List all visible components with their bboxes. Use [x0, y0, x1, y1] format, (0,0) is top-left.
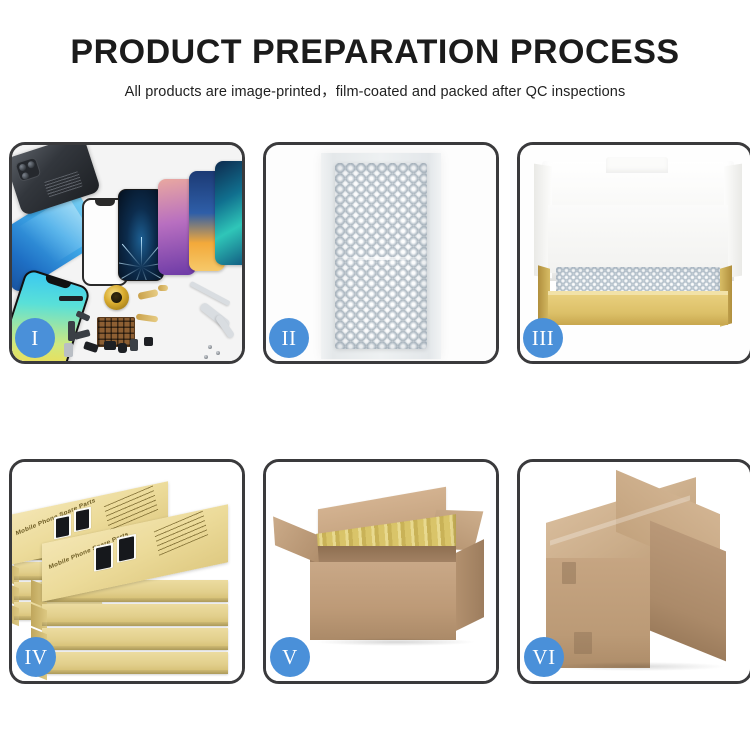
step-badge-6: VI [524, 637, 564, 677]
step-badge-4: IV [16, 637, 56, 677]
speaker-coil-icon [104, 285, 129, 310]
sealed-carton-tape-upper [562, 562, 576, 584]
process-step-panel-2[interactable]: II [263, 142, 499, 364]
carton-shadow [316, 638, 476, 646]
mailer-interior [548, 205, 728, 273]
mailer-front-wall [548, 295, 728, 325]
header: PRODUCT PREPARATION PROCESS All products… [0, 0, 750, 101]
page-subtitle: All products are image-printed，film-coat… [0, 80, 750, 101]
step-badge-5: V [270, 637, 310, 677]
part-antenna [59, 296, 83, 301]
part-tray [64, 343, 73, 357]
process-step-panel-6[interactable]: VI [517, 459, 750, 684]
page-title: PRODUCT PREPARATION PROCESS [0, 34, 750, 71]
part-module-1 [104, 341, 116, 350]
mailer-top-flap [606, 157, 668, 173]
product-preparation-infographic: PRODUCT PREPARATION PROCESS All products… [0, 0, 750, 750]
process-step-panel-1[interactable]: I [9, 142, 245, 364]
sealed-carton-shadow [554, 662, 724, 671]
part-module-5 [144, 337, 153, 346]
part-module-3 [130, 339, 138, 351]
process-step-grid: I II III [9, 142, 741, 684]
process-step-panel-4[interactable]: Mobile Phone Spare Parts Mobile Phone Sp… [9, 459, 245, 684]
step-badge-2: II [269, 318, 309, 358]
part-module-2 [118, 343, 127, 353]
carton-front-face [310, 562, 456, 640]
process-step-panel-3[interactable]: III [517, 142, 750, 364]
step-badge-3: III [523, 318, 563, 358]
step-badge-1: I [15, 318, 55, 358]
bubble-wrap-seam [336, 257, 426, 260]
process-step-panel-5[interactable]: V [263, 459, 499, 684]
sealed-carton-tape-lower [574, 632, 592, 654]
teal-phone-icon [215, 161, 242, 265]
carton-side-face [456, 539, 484, 631]
bubble-wrap-icon [335, 163, 427, 349]
part-flex-cable-2 [158, 285, 168, 291]
